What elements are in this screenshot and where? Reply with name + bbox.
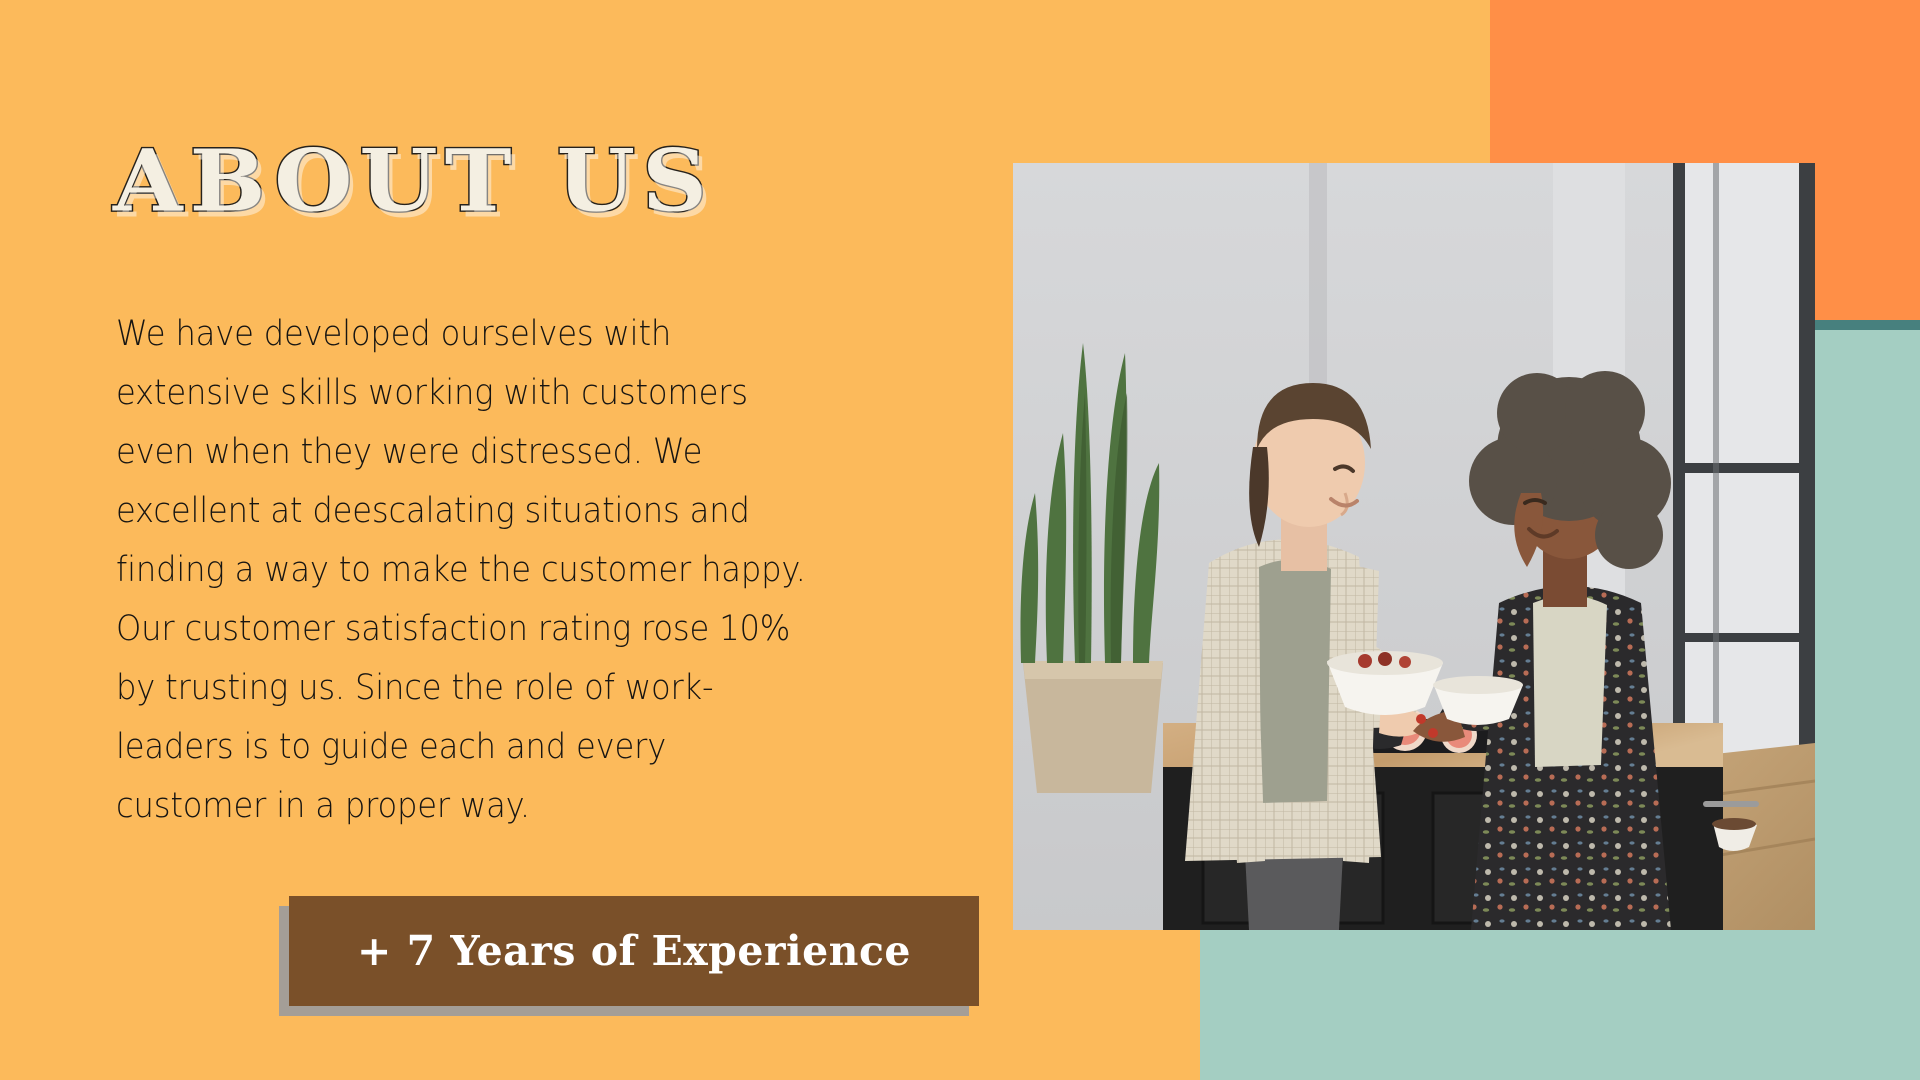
team-photo-illustration — [1013, 163, 1815, 930]
experience-badge-label: + 7 Years of Experience — [357, 927, 911, 975]
page-title: ABOUT US — [113, 139, 714, 224]
experience-badge[interactable]: + 7 Years of Experience — [289, 896, 979, 1006]
experience-badge-container: + 7 Years of Experience — [289, 896, 979, 1006]
about-paragraph: We have developed ourselves with extensi… — [116, 305, 815, 836]
team-photo — [1013, 163, 1815, 930]
about-us-slide: ABOUT US We have developed ourselves wit… — [0, 0, 1920, 1080]
content-column: ABOUT US We have developed ourselves wit… — [0, 0, 1000, 1080]
